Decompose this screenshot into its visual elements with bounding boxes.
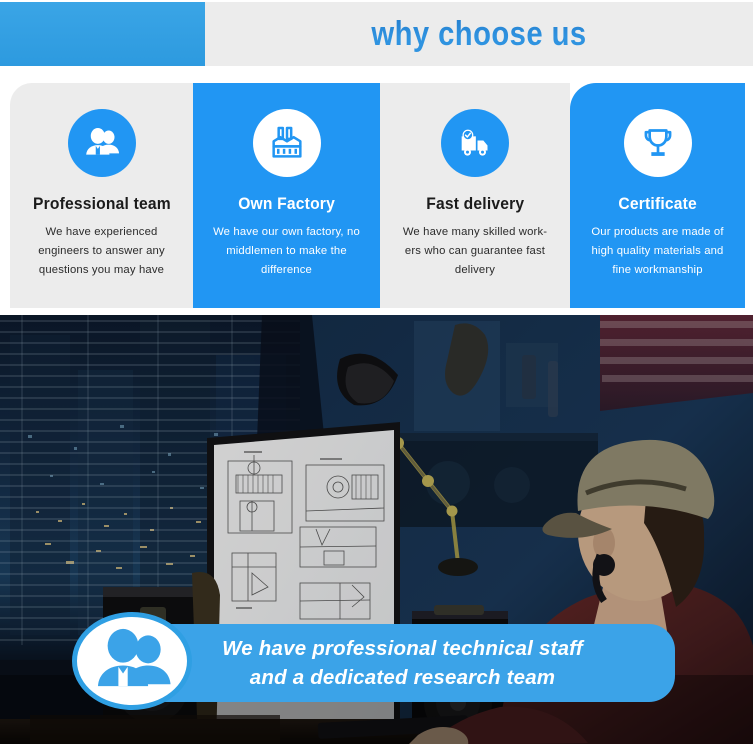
feature-card-title: Certificate bbox=[618, 194, 697, 214]
feature-card-own-factory[interactable]: Own Factory We have our own factory, no … bbox=[193, 83, 380, 308]
header-accent-block bbox=[0, 2, 205, 66]
feature-card-title: Own Factory bbox=[238, 194, 335, 214]
factory-icon bbox=[253, 109, 321, 177]
banner-line-1: We have professional technical staff bbox=[222, 634, 583, 663]
people-icon bbox=[68, 109, 136, 177]
why-choose-us-page: why choose us Professional team We have … bbox=[0, 0, 753, 744]
banner-icon-badge bbox=[72, 612, 192, 710]
page-title: why choose us bbox=[243, 2, 714, 66]
page-header: why choose us bbox=[0, 2, 753, 66]
feature-card-description: Our products are made of high quality ma… bbox=[584, 223, 731, 280]
feature-card-description: We have many skilled work-ers who can gu… bbox=[395, 223, 555, 280]
feature-card-certificate[interactable]: Certificate Our products are made of hig… bbox=[570, 83, 745, 308]
trophy-icon bbox=[624, 109, 692, 177]
feature-card-description: We have experienced engineers to answer … bbox=[25, 223, 179, 280]
feature-card-title: Professional team bbox=[33, 194, 171, 214]
bottom-banner: We have professional technical staff and… bbox=[0, 612, 753, 712]
delivery-truck-icon bbox=[441, 109, 509, 177]
banner-pill: We have professional technical staff and… bbox=[130, 624, 675, 702]
feature-card-fast-delivery[interactable]: Fast delivery We have many skilled work-… bbox=[380, 83, 570, 308]
feature-card-title: Fast delivery bbox=[426, 194, 524, 214]
feature-card-row: Professional team We have experienced en… bbox=[0, 83, 753, 308]
feature-card-description: We have our own factory, no middlemen to… bbox=[208, 223, 365, 280]
feature-card-professional-team[interactable]: Professional team We have experienced en… bbox=[10, 83, 193, 308]
banner-line-2: and a dedicated research team bbox=[250, 663, 555, 692]
people-icon bbox=[89, 625, 175, 697]
